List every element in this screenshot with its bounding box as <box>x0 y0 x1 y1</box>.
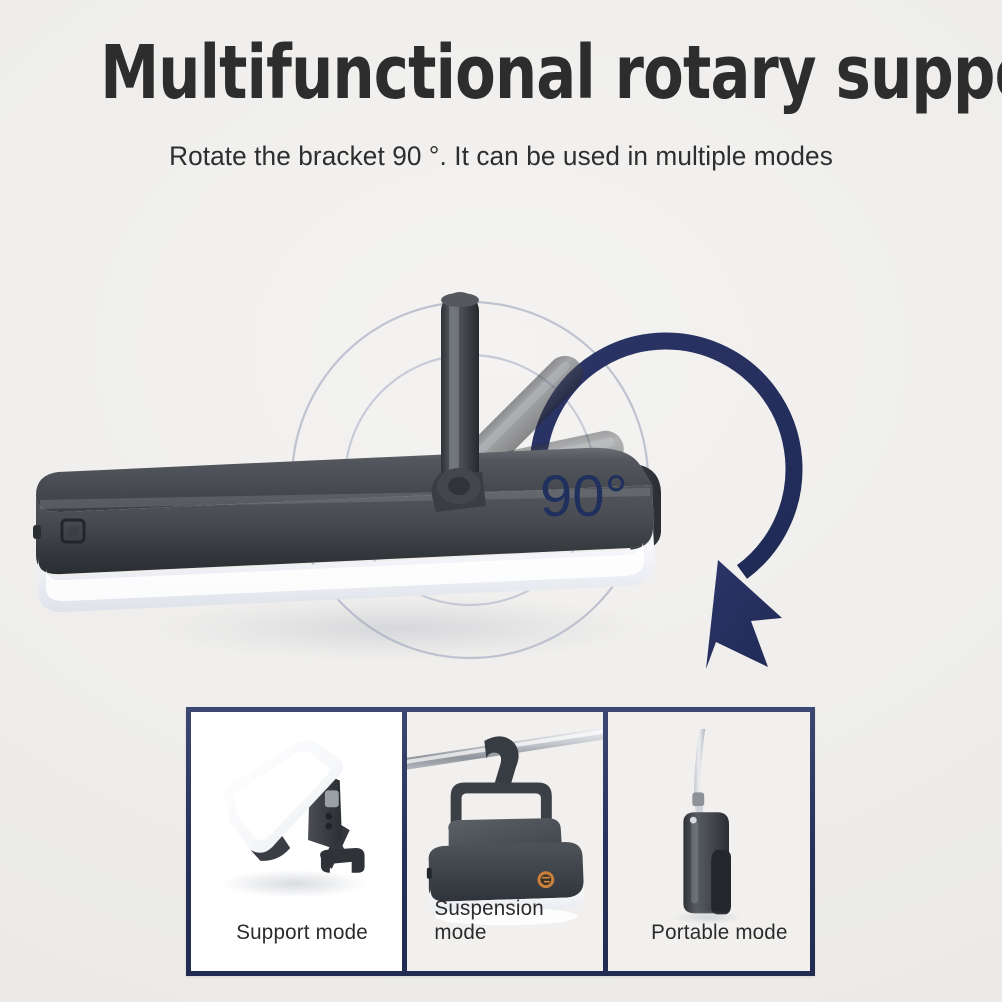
mode-panel-group: Support mode <box>186 707 815 976</box>
product-feature-graphic: Multifunctional rotary support Rotate th… <box>0 0 1002 1002</box>
page-subtitle: Rotate the bracket 90 °. It can be used … <box>15 141 987 172</box>
mode-panel-support[interactable]: Support mode <box>191 712 402 971</box>
bracket-arm-vertical <box>441 292 479 492</box>
bracket-hinge <box>432 468 486 512</box>
mode-panel-suspension[interactable]: Suspension mode <box>407 712 602 971</box>
mode-label-support: Support mode <box>193 921 400 971</box>
angle-label: 90° <box>540 468 628 526</box>
mode-label-suspension: Suspension mode <box>409 897 600 971</box>
brand-badge <box>538 871 555 888</box>
hero-svg <box>0 180 1002 690</box>
mode-panel-portable[interactable]: Portable mode <box>608 712 810 971</box>
page-title: Multifunctional rotary support <box>100 33 902 113</box>
hero-illustration: 90° <box>0 180 1002 690</box>
mode-label-portable: Portable mode <box>610 921 808 971</box>
